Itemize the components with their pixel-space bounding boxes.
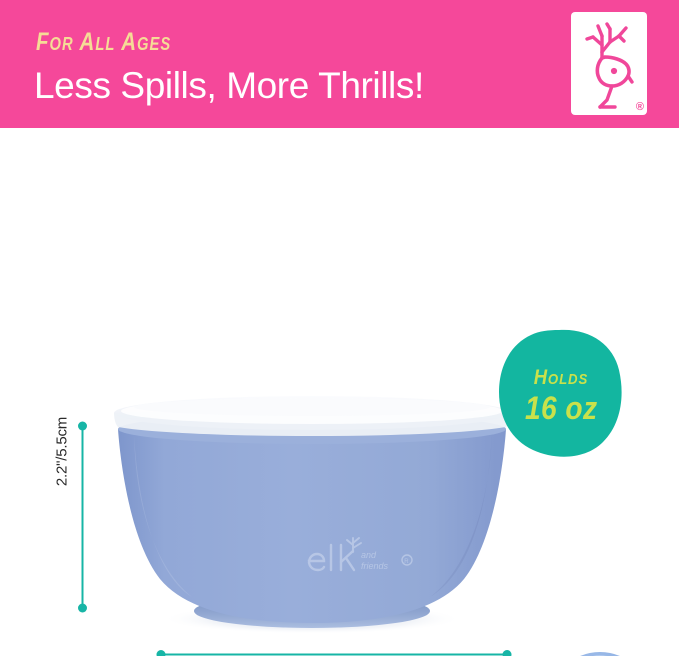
suction-base-image (540, 646, 660, 656)
height-measure-label: 2.2"/5.5cm (54, 377, 71, 527)
product-canvas: and friends R Holds 16 oz (0, 128, 679, 656)
height-measure-line (76, 420, 89, 614)
registered-trademark-icon: ® (636, 102, 644, 113)
product-bowl-image (100, 383, 520, 643)
badge-capacity-value: 16 oz (525, 392, 598, 424)
width-measure-line (155, 648, 513, 656)
header-banner: For All Ages Less Spills, More Thrills! (0, 0, 679, 128)
infographic-page: For All Ages Less Spills, More Thrills! (0, 0, 679, 656)
banner-eyebrow: For All Ages (36, 30, 171, 55)
capacity-badge: Holds 16 oz (497, 328, 625, 458)
badge-holds-label: Holds (534, 367, 588, 388)
badge-text-group: Holds 16 oz (497, 328, 625, 458)
banner-headline: Less Spills, More Thrills! (34, 66, 424, 107)
elk-head-logo: ® (571, 12, 647, 115)
